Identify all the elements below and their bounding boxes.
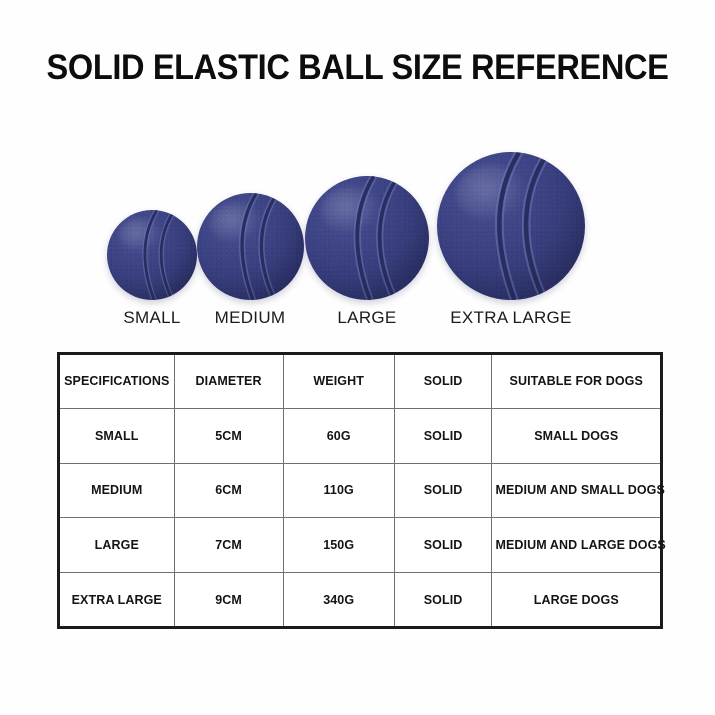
table-cell: 9CM: [174, 573, 283, 626]
column-header: SPECIFICATIONS: [60, 355, 174, 408]
ball-shading: [305, 176, 429, 300]
column-header: DIAMETER: [174, 355, 283, 408]
table-cell: SOLID: [394, 573, 492, 626]
table-cell: 110G: [283, 463, 394, 518]
ball-medium: [197, 193, 304, 300]
ball-graphic: [107, 210, 197, 300]
ball-size-row: [0, 125, 715, 300]
table-cell: MEDIUM AND SMALL DOGS: [492, 463, 660, 518]
ball-graphic: [305, 176, 429, 300]
ball-large: [305, 176, 429, 300]
table-cell: LARGE DOGS: [492, 573, 660, 626]
table-cell: 7CM: [174, 518, 283, 573]
table-cell: 60G: [283, 408, 394, 463]
table-row: LARGE7CM150GSOLIDMEDIUM AND LARGE DOGS: [60, 518, 660, 573]
ball-shading: [197, 193, 304, 300]
ball-extra-large: [437, 152, 585, 300]
table-header-row: SPECIFICATIONSDIAMETERWEIGHTSOLIDSUITABL…: [60, 355, 660, 408]
table-row: SMALL5CM60GSOLIDSMALL DOGS: [60, 408, 660, 463]
specifications-table: SPECIFICATIONSDIAMETERWEIGHTSOLIDSUITABL…: [57, 352, 663, 629]
table-cell: LARGE: [60, 518, 174, 573]
ball-label-extra-large: EXTRA LARGE: [411, 308, 611, 328]
column-header: WEIGHT: [283, 355, 394, 408]
column-header: SUITABLE FOR DOGS: [492, 355, 660, 408]
table-cell: 5CM: [174, 408, 283, 463]
table-cell: SOLID: [394, 518, 492, 573]
table-cell: SMALL DOGS: [492, 408, 660, 463]
ball-shading: [107, 210, 197, 300]
ball-shading: [437, 152, 585, 300]
table-cell: SMALL: [60, 408, 174, 463]
table-cell: 6CM: [174, 463, 283, 518]
ball-graphic: [197, 193, 304, 300]
page-title: SOLID ELASTIC BALL SIZE REFERENCE: [25, 48, 690, 88]
column-header: SOLID: [394, 355, 492, 408]
table-cell: SOLID: [394, 408, 492, 463]
infographic-page: SOLID ELASTIC BALL SIZE REFERENCE SMALLM…: [0, 0, 715, 715]
table-cell: 150G: [283, 518, 394, 573]
ball-small: [107, 210, 197, 300]
table-cell: 340G: [283, 573, 394, 626]
table-cell: MEDIUM AND LARGE DOGS: [492, 518, 660, 573]
table-cell: MEDIUM: [60, 463, 174, 518]
table-row: MEDIUM6CM110GSOLIDMEDIUM AND SMALL DOGS: [60, 463, 660, 518]
ball-label-row: SMALLMEDIUMLARGEEXTRA LARGE: [0, 308, 715, 334]
table-cell: EXTRA LARGE: [60, 573, 174, 626]
table-body: SPECIFICATIONSDIAMETERWEIGHTSOLIDSUITABL…: [60, 355, 660, 626]
table-cell: SOLID: [394, 463, 492, 518]
table-row: EXTRA LARGE9CM340GSOLIDLARGE DOGS: [60, 573, 660, 626]
ball-graphic: [437, 152, 585, 300]
